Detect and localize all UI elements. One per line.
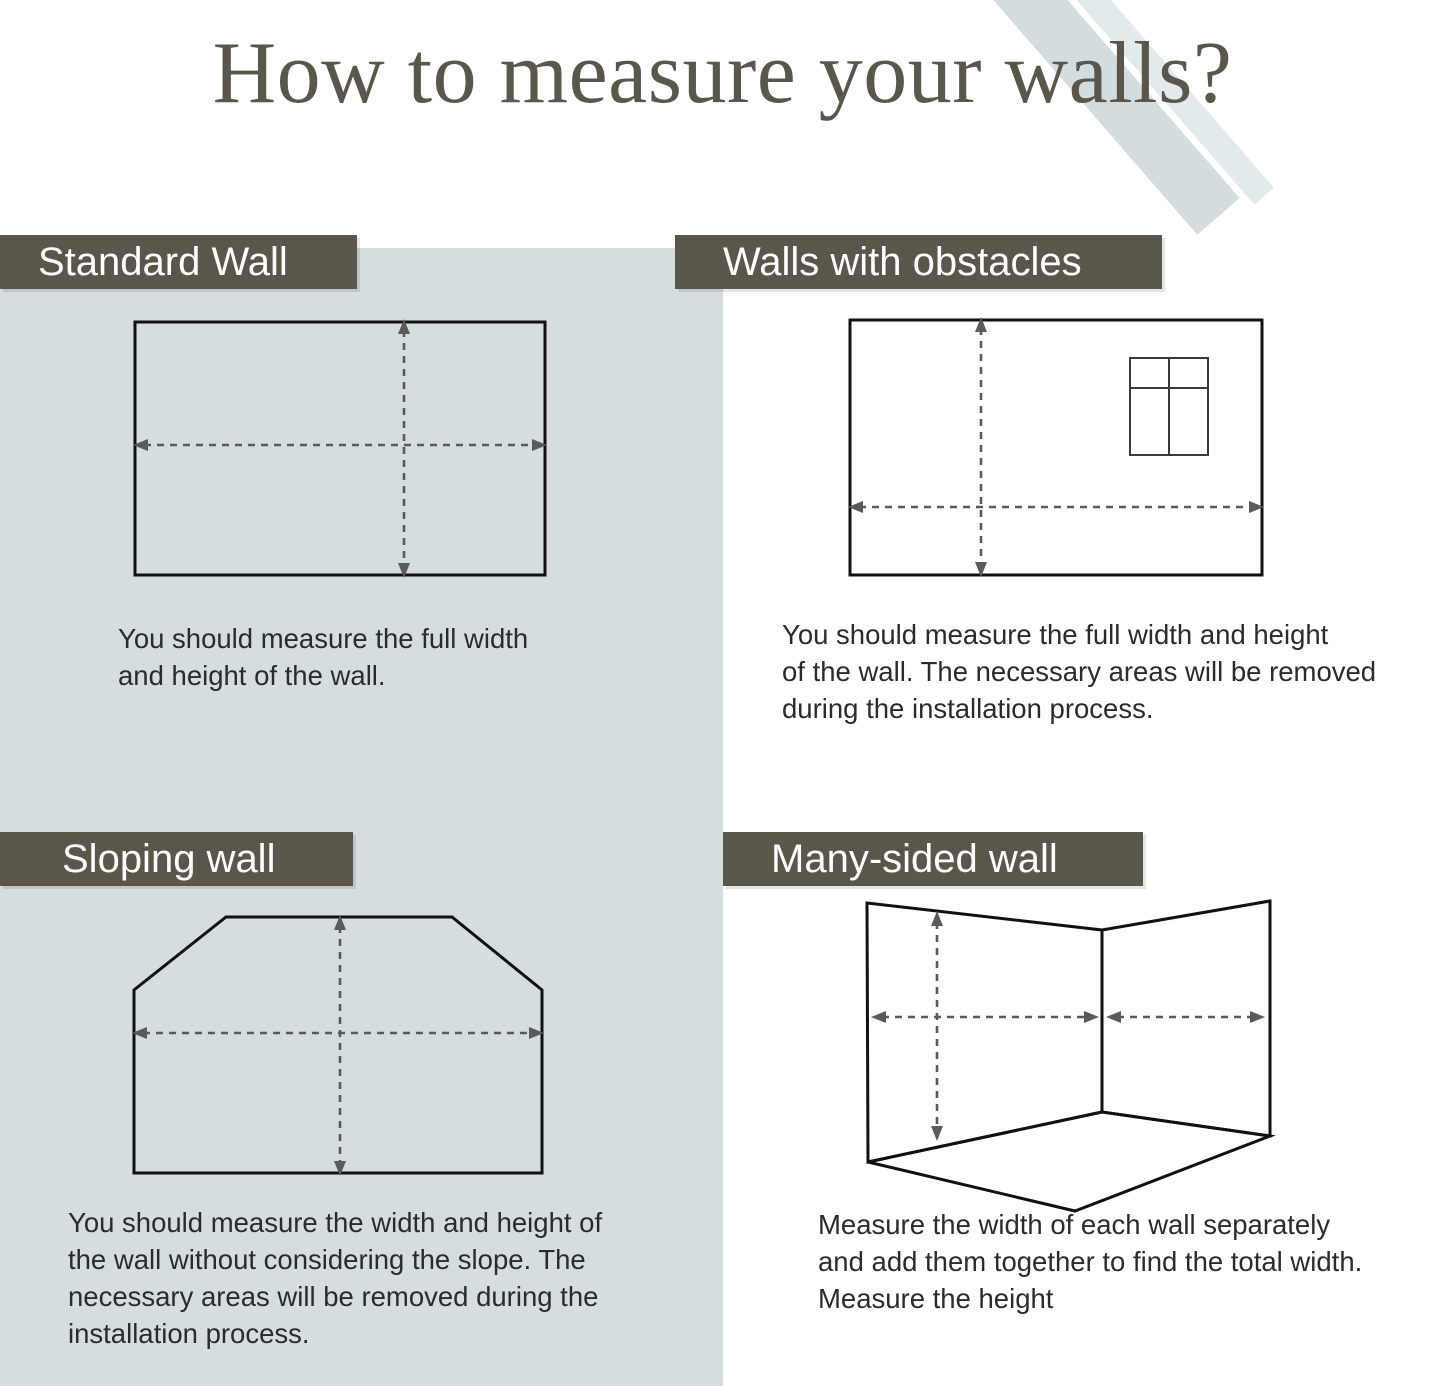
caption-many-sided-wall: Measure the width of each wall separatel… <box>818 1206 1428 1317</box>
sloping-wall-diagram <box>100 890 580 1200</box>
many-sided-wall-diagram <box>840 890 1310 1220</box>
caption-walls-with-obstacles: You should measure the full width and he… <box>782 616 1422 727</box>
section-header-sloping-wall: Sloping wall <box>0 832 353 886</box>
walls-with-obstacles-diagram <box>815 300 1295 600</box>
page-title: How to measure your walls? <box>0 28 1445 120</box>
section-header-many-sided-wall-label: Many-sided wall <box>723 832 1143 886</box>
section-header-walls-with-obstacles: Walls with obstacles <box>675 235 1162 289</box>
standard-wall-diagram <box>100 300 580 600</box>
section-header-sloping-wall-label: Sloping wall <box>0 832 353 886</box>
section-header-walls-with-obstacles-label: Walls with obstacles <box>675 235 1162 289</box>
infographic-canvas: How to measure your walls? Standard Wall… <box>0 0 1445 1386</box>
window-obstacle-icon <box>1130 358 1208 455</box>
section-header-standard-wall-label: Standard Wall <box>0 235 357 289</box>
section-header-many-sided-wall: Many-sided wall <box>723 832 1143 886</box>
caption-standard-wall: You should measure the full width and he… <box>118 620 638 694</box>
caption-sloping-wall: You should measure the width and height … <box>68 1204 668 1352</box>
section-header-standard-wall: Standard Wall <box>0 235 357 289</box>
